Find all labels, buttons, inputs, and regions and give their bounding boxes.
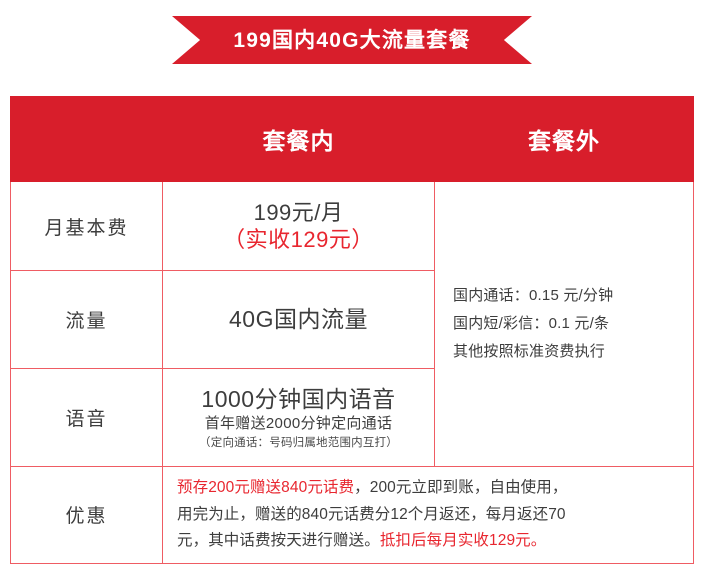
out-of-plan-other-note: 其他按照标准资费执行 xyxy=(453,338,693,366)
row-label-voice: 语音 xyxy=(11,369,163,467)
row-label-data: 流量 xyxy=(11,271,163,369)
row-label-monthly-fee: 月基本费 xyxy=(11,182,163,271)
voice-bonus-note: 首年赠送2000分钟定向通话 xyxy=(163,415,434,434)
cell-monthly-fee-in-plan: 199元/月 （实收129元） xyxy=(163,182,435,271)
header-label-in-plan: 套餐内 xyxy=(263,128,335,154)
cell-promo-description: 预存200元赠送840元话费，200元立即到账，自由使用， 用完为止，赠送的84… xyxy=(163,467,694,564)
out-of-plan-sms-rate: 国内短/彩信：0.1 元/条 xyxy=(453,310,693,338)
promo-line-2: 用完为止，赠送的840元话费分12个月返还，每月返还70 xyxy=(177,502,679,529)
promo-line-3: 元，其中话费按天进行赠送。抵扣后每月实收129元。 xyxy=(177,528,679,555)
voice-bonus-detail: （定向通话：号码归属地范围内互打） xyxy=(163,436,434,450)
plan-table: 套餐内 套餐外 月基本费 199元/月 （实收129元） 国内通话：0.15 元… xyxy=(10,96,694,564)
data-value: 40G国内流量 xyxy=(163,305,434,334)
header-cell-out-plan: 套餐外 xyxy=(435,97,694,182)
header-label-out-plan: 套餐外 xyxy=(528,128,600,154)
out-of-plan-call-rate: 国内通话：0.15 元/分钟 xyxy=(453,282,693,310)
header-cell-blank xyxy=(11,97,163,182)
monthly-fee-note: （实收129元） xyxy=(163,226,434,254)
promo-line-3-rest: 元，其中话费按天进行赠送。 xyxy=(177,532,380,549)
table-row-monthly-fee: 月基本费 199元/月 （实收129元） 国内通话：0.15 元/分钟 国内短/… xyxy=(11,182,694,271)
row-label-promo: 优惠 xyxy=(11,467,163,564)
promo-text-block: 预存200元赠送840元话费，200元立即到账，自由使用， 用完为止，赠送的84… xyxy=(163,467,693,563)
table-row-promo: 优惠 预存200元赠送840元话费，200元立即到账，自由使用， 用完为止，赠送… xyxy=(11,467,694,564)
promo-line-1-rest: ，200元立即到账，自由使用， xyxy=(354,479,567,496)
banner-title: 199国内40G大流量套餐 xyxy=(233,30,470,51)
cell-voice-in-plan: 1000分钟国内语音 首年赠送2000分钟定向通话 （定向通话：号码归属地范围内… xyxy=(163,369,435,467)
promo-line-1-highlight: 预存200元赠送840元话费 xyxy=(177,479,354,496)
header-cell-in-plan: 套餐内 xyxy=(163,97,435,182)
out-of-plan-list: 国内通话：0.15 元/分钟 国内短/彩信：0.1 元/条 其他按照标准资费执行 xyxy=(435,276,693,371)
table-header-row: 套餐内 套餐外 xyxy=(11,97,694,182)
cell-out-of-plan-rates: 国内通话：0.15 元/分钟 国内短/彩信：0.1 元/条 其他按照标准资费执行 xyxy=(435,182,694,467)
promo-line-3-highlight: 抵扣后每月实收129元。 xyxy=(380,532,547,549)
monthly-fee-value: 199元/月 xyxy=(163,199,434,227)
cell-data-in-plan: 40G国内流量 xyxy=(163,271,435,369)
plan-poster: 199国内40G大流量套餐 套餐内 套餐外 xyxy=(0,0,704,574)
banner-area: 199国内40G大流量套餐 xyxy=(0,0,704,92)
promo-line-1: 预存200元赠送840元话费，200元立即到账，自由使用， xyxy=(177,475,679,502)
voice-value: 1000分钟国内语音 xyxy=(163,385,434,414)
ribbon-banner: 199国内40G大流量套餐 xyxy=(172,16,532,64)
